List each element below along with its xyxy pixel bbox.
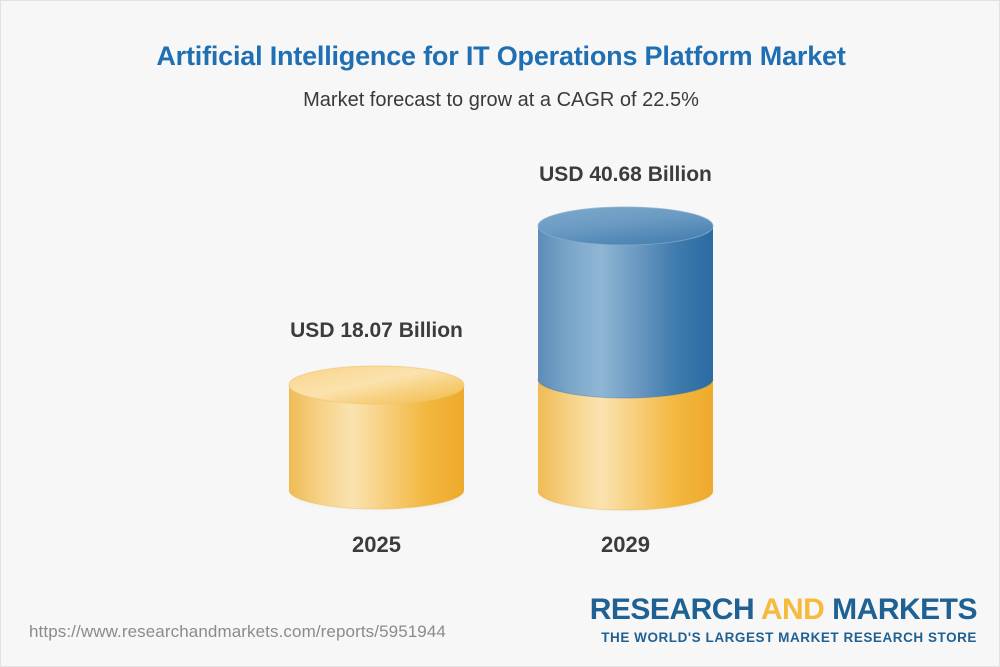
- value-label-2029: USD 40.68 Billion: [538, 163, 713, 187]
- bar-group-2029: USD 40.68 Billion: [538, 1, 713, 591]
- logo-word-markets: MARKETS: [824, 593, 977, 626]
- cylinder-2025: [289, 366, 464, 511]
- chart-canvas: Artificial Intelligence for IT Operation…: [0, 0, 1000, 667]
- category-label-2025: 2025: [289, 532, 464, 558]
- research-and-markets-logo[interactable]: RESEARCH AND MARKETS THE WORLD'S LARGEST…: [590, 595, 977, 645]
- bar-group-2025: USD 18.07 Billion: [289, 1, 464, 591]
- logo-word-and: AND: [761, 593, 825, 626]
- value-label-2025: USD 18.07 Billion: [289, 319, 464, 343]
- category-label-2029: 2029: [538, 532, 713, 558]
- logo-tagline: THE WORLD'S LARGEST MARKET RESEARCH STOR…: [590, 631, 977, 645]
- cylinder-2029: [538, 207, 713, 512]
- plot-area: USD 18.07 Billion: [1, 1, 1000, 591]
- logo-wordmark: RESEARCH AND MARKETS: [590, 595, 977, 625]
- report-url[interactable]: https://www.researchandmarkets.com/repor…: [29, 622, 446, 642]
- logo-word-research: RESEARCH: [590, 593, 761, 626]
